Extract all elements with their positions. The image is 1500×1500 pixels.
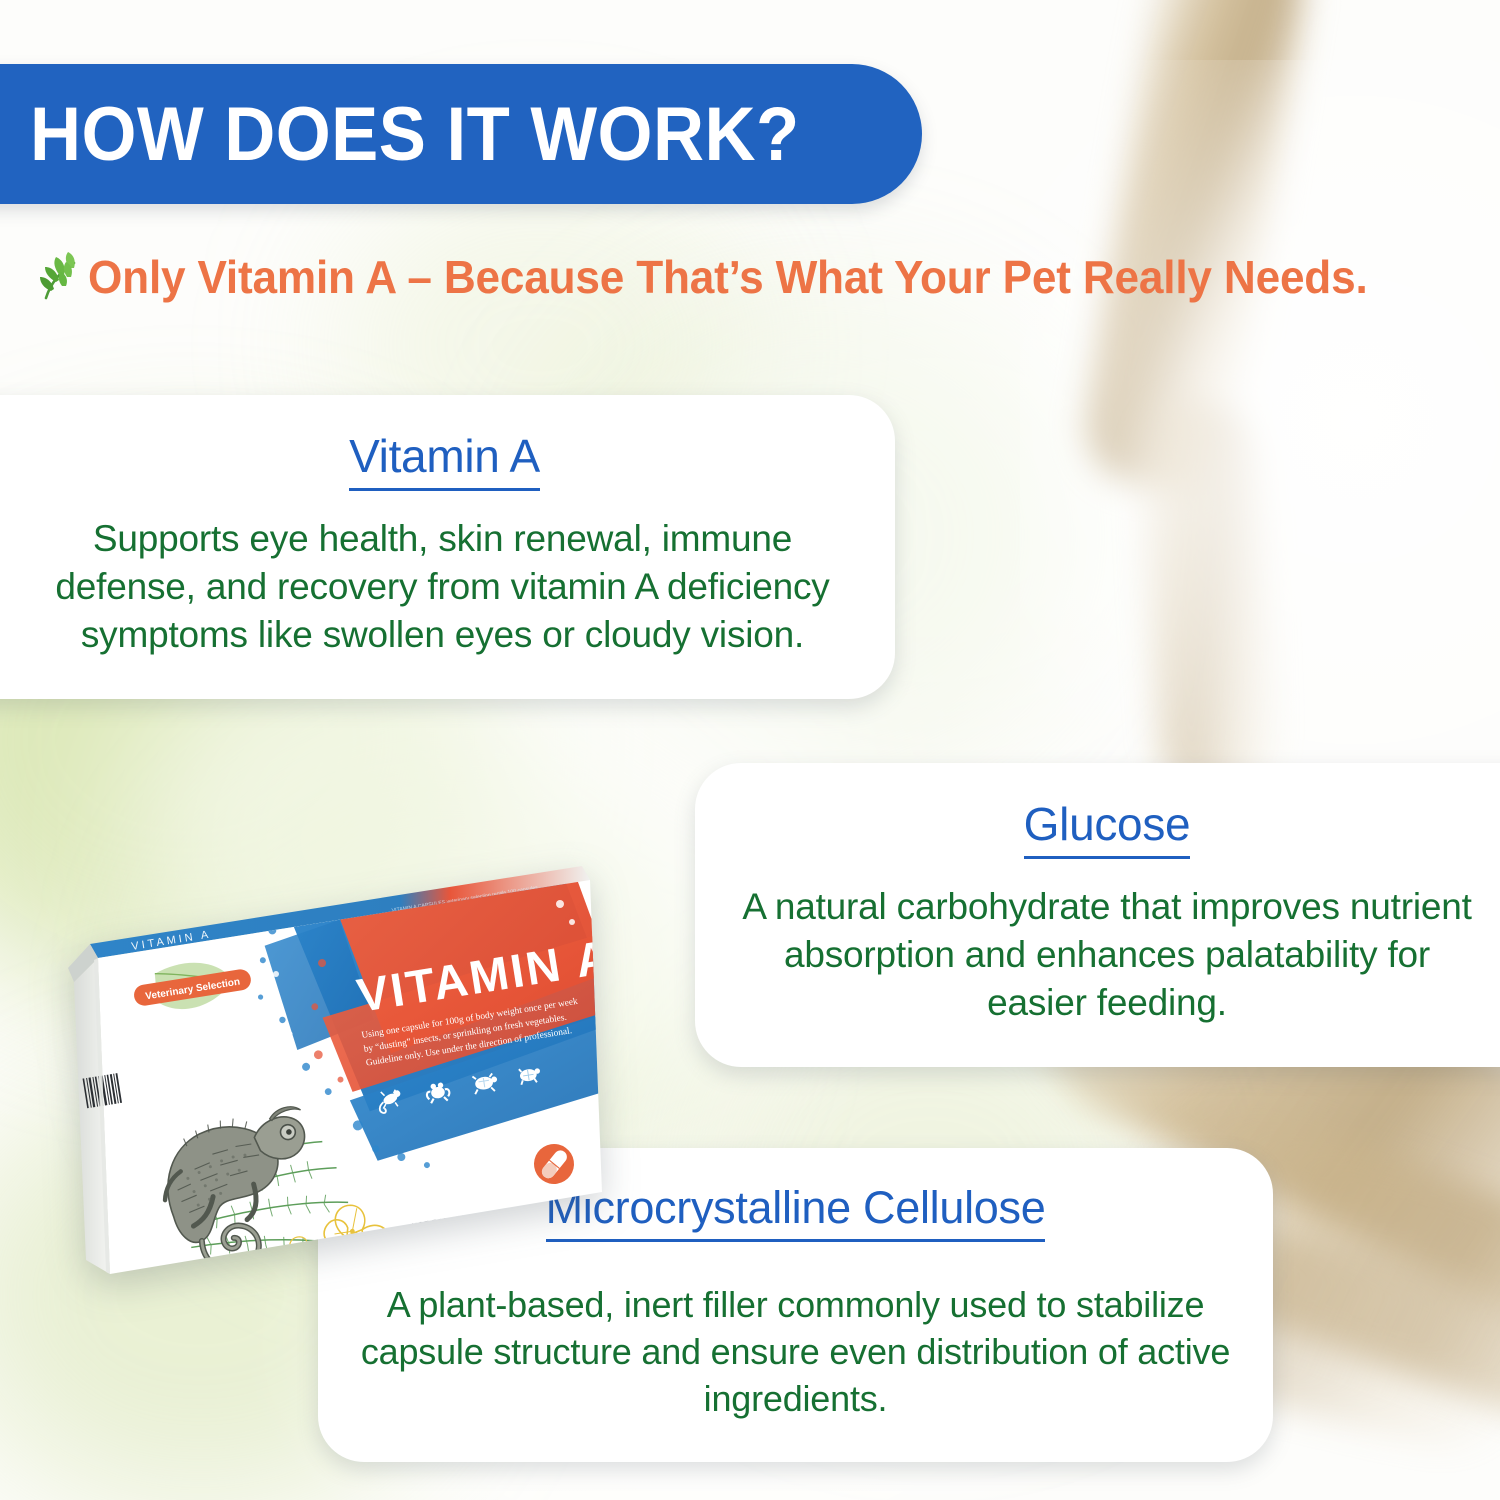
card-body-cellulose: A plant-based, inert filler commonly use… bbox=[358, 1282, 1233, 1422]
product-box-image: VITAMIN A VITAMIN A CAPSULES veterinary … bbox=[62, 862, 622, 1292]
card-body-glucose: A natural carbohydrate that improves nut… bbox=[735, 883, 1479, 1027]
info-card-vitamin-a: Vitamin A Supports eye health, skin rene… bbox=[0, 395, 895, 699]
herb-leaf-icon bbox=[36, 251, 84, 303]
card-body-vitamin-a: Supports eye health, skin renewal, immun… bbox=[30, 515, 855, 659]
card-title-vitamin-a: Vitamin A bbox=[349, 429, 540, 491]
card-title-glucose: Glucose bbox=[1024, 797, 1191, 859]
page-title: HOW DOES IT WORK? bbox=[30, 91, 800, 178]
subtitle-text: Only Vitamin A – Because That’s What You… bbox=[88, 250, 1368, 304]
subtitle-row: Only Vitamin A – Because That’s What You… bbox=[36, 250, 1421, 304]
info-card-glucose: Glucose A natural carbohydrate that impr… bbox=[695, 763, 1500, 1067]
header-banner: HOW DOES IT WORK? bbox=[0, 64, 922, 204]
